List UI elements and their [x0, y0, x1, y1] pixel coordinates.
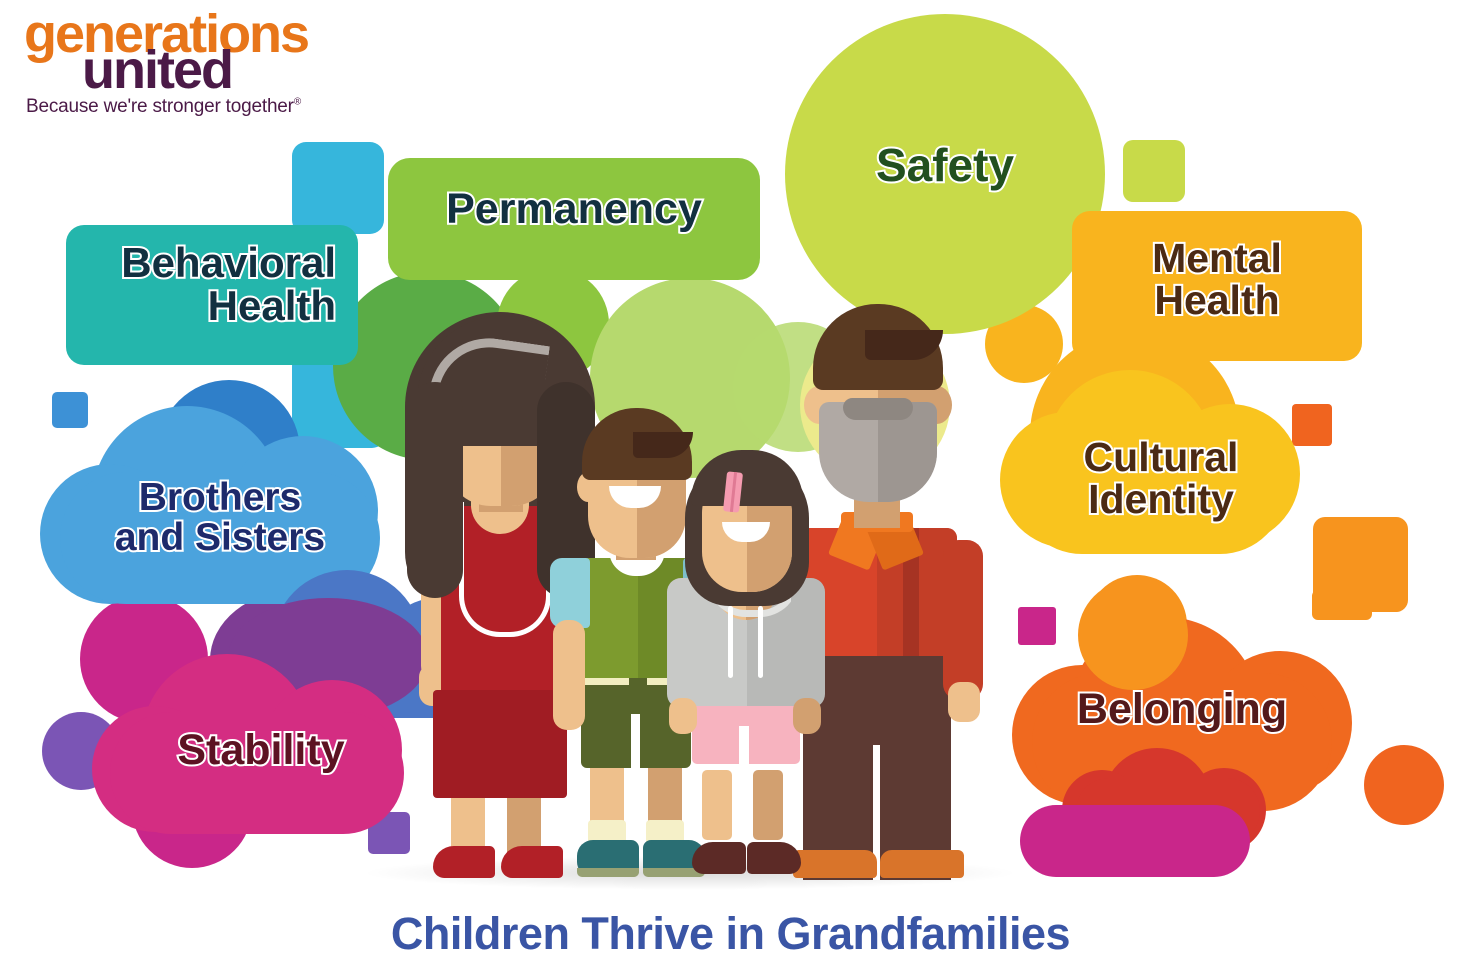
girl-leg-left: [702, 770, 732, 840]
decor-square-lime: [1123, 140, 1185, 202]
label-safety: Safety: [785, 142, 1105, 189]
girl-sleeve-left: [667, 578, 701, 708]
page-title: Children Thrive in Grandfamilies: [0, 908, 1461, 960]
girl-hair-fringe: [691, 450, 803, 506]
girl-hand-right: [793, 698, 821, 734]
label-stability: Stability: [96, 729, 426, 773]
label-behavioral-health: Behavioral Health: [66, 242, 358, 328]
label-brothers-and-sisters: Brothers and Sisters: [40, 478, 400, 558]
girl-leg-right: [753, 770, 783, 840]
girl-hand-left: [669, 698, 697, 734]
decor-square-orange-topright: [1312, 590, 1372, 620]
logo-tagline: Because we're stronger together®: [26, 96, 360, 118]
girl-skirt-gap: [739, 726, 749, 764]
decor-circle-orange-accent-belonging: [1078, 580, 1188, 690]
label-belonging: Belonging: [1022, 688, 1342, 732]
decor-circle-orange-bottom-right: [1364, 745, 1444, 825]
generations-united-logo: generations united Because we're stronge…: [20, 12, 360, 112]
decor-pill-magenta: [1020, 805, 1250, 877]
decor-square-cyan-top: [292, 142, 384, 234]
infographic-canvas: generations united Because we're stronge…: [0, 0, 1461, 973]
girl-drawstring-left: [728, 606, 733, 678]
label-permanency: Permanency: [388, 188, 760, 232]
girl-sleeve-right: [791, 578, 825, 708]
logo-word-united: united: [82, 46, 360, 94]
girl-figure: [395, 290, 975, 880]
label-cultural-identity: Cultural Identity: [1016, 437, 1306, 521]
label-mental-health: Mental Health: [1072, 238, 1362, 322]
girl-shoe-right: [747, 842, 801, 874]
girl-shoe-left: [692, 842, 746, 874]
grandfamily-illustration: [395, 290, 975, 880]
registered-mark-icon: ®: [294, 97, 301, 108]
girl-drawstring-right: [758, 606, 763, 678]
